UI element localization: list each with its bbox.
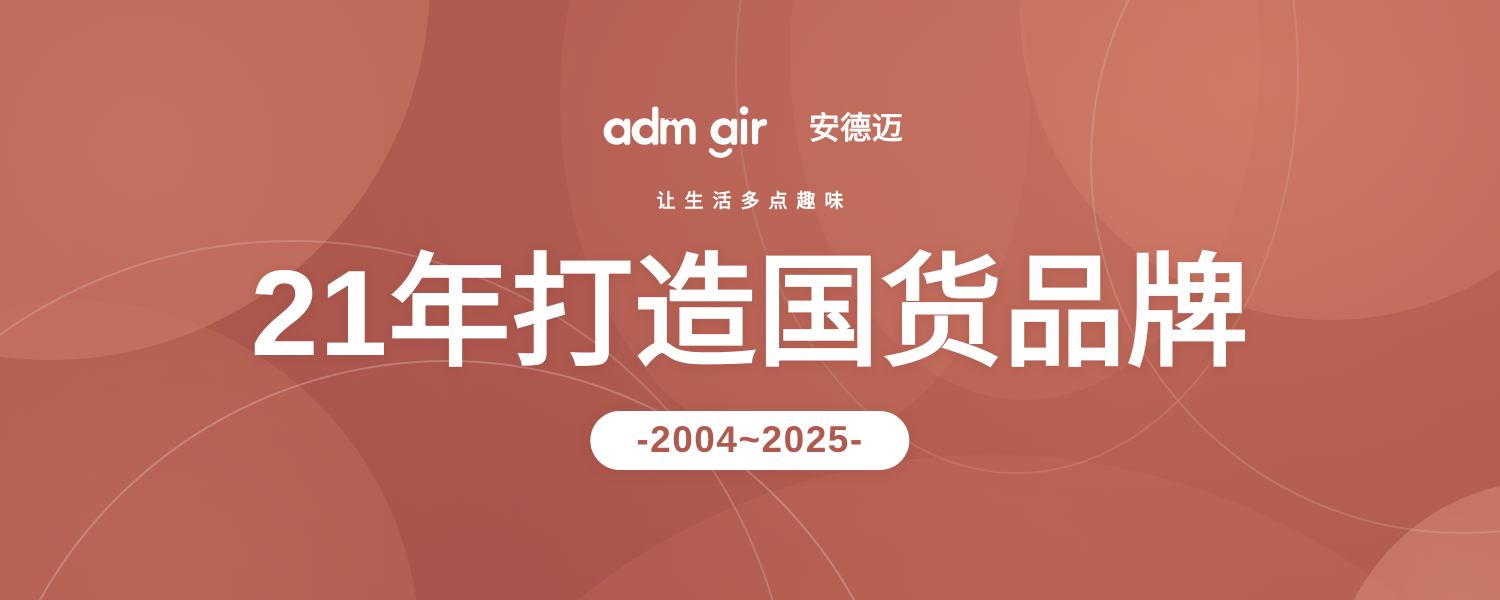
- brand-chinese-name: 安德迈: [809, 113, 904, 144]
- brand-tagline: 让生活多点趣味: [647, 186, 852, 213]
- headline-title: 21年打造国货品牌: [251, 252, 1250, 374]
- brand-logo-lockup: 安德迈: [597, 104, 904, 164]
- promo-banner: 安德迈 让生活多点趣味 21年打造国货品牌 -2004~2025-: [0, 0, 1500, 600]
- date-range-badge: -2004~2025-: [590, 411, 909, 470]
- admair-wordmark: [597, 104, 797, 164]
- banner-content: 安德迈 让生活多点趣味 21年打造国货品牌 -2004~2025-: [0, 0, 1500, 600]
